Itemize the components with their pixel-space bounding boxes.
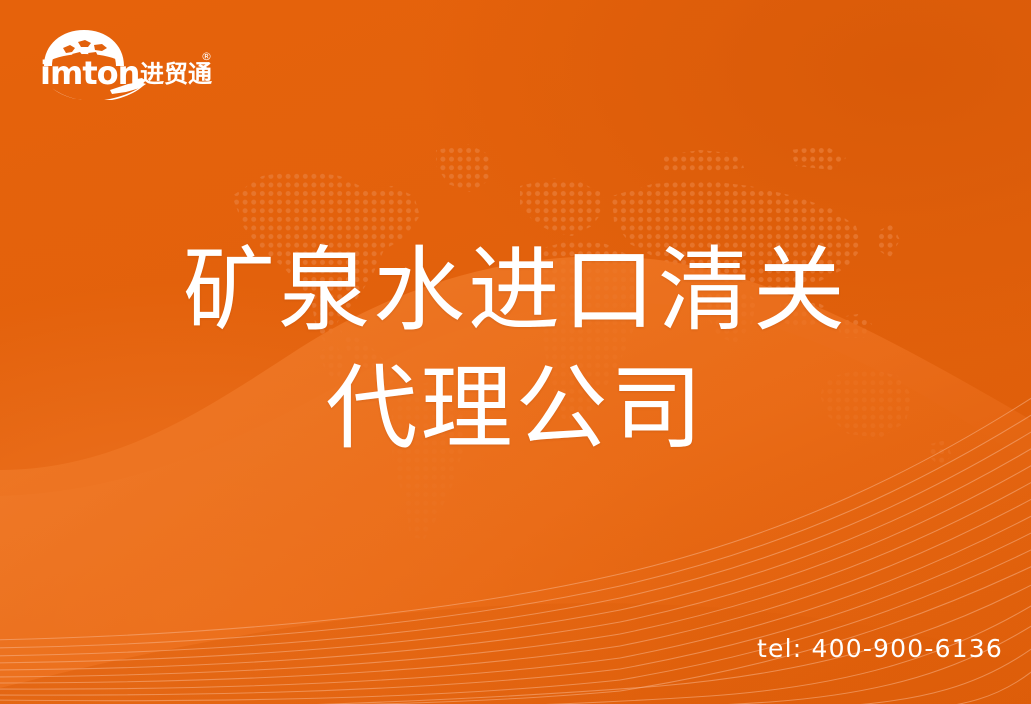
trademark-icon: ®: [201, 50, 212, 63]
imton-logo[interactable]: imton 进贸通 ®: [36, 28, 212, 100]
promo-banner: imton 进贸通 ® 矿泉水进口清关 代理公司 tel: 400-900-61…: [0, 0, 1031, 704]
logo-latin-wordmark: imton: [40, 54, 139, 92]
headline-line-2: 代理公司: [0, 350, 1031, 468]
logo-chinese-wordmark: 进贸通: [140, 60, 212, 88]
page-title: 矿泉水进口清关 代理公司: [0, 232, 1031, 468]
contact-phone[interactable]: tel: 400-900-6136: [757, 634, 1003, 663]
headline-line-1: 矿泉水进口清关: [0, 232, 1031, 350]
